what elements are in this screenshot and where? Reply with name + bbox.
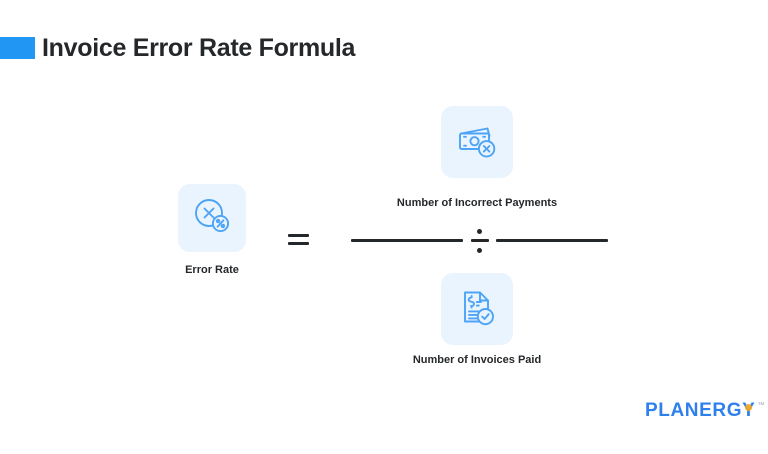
division-sign: [471, 228, 489, 254]
invoices-paid-caption: Number of Invoices Paid: [377, 355, 577, 366]
equals-sign: [288, 228, 322, 252]
incorrect-payments-caption: Number of Incorrect Payments: [377, 198, 577, 209]
incorrect-payments-icon: [454, 117, 500, 168]
error-rate-caption: Error Rate: [138, 265, 286, 276]
planergy-logo: PLANERGY ™: [645, 401, 764, 423]
error-rate-tile: [178, 184, 246, 252]
invoices-paid-tile: [441, 273, 513, 345]
logo-trademark: ™: [757, 402, 764, 409]
logo-wordmark: PLANERGY: [645, 401, 755, 420]
fraction-bar-left: [351, 239, 463, 242]
error-rate-icon: [190, 194, 234, 243]
invoices-paid-icon: [454, 284, 500, 335]
incorrect-payments-tile: [441, 106, 513, 178]
fraction-bar-right: [496, 239, 608, 242]
formula-diagram: Error Rate Number of Incorrect Payments: [0, 0, 768, 454]
